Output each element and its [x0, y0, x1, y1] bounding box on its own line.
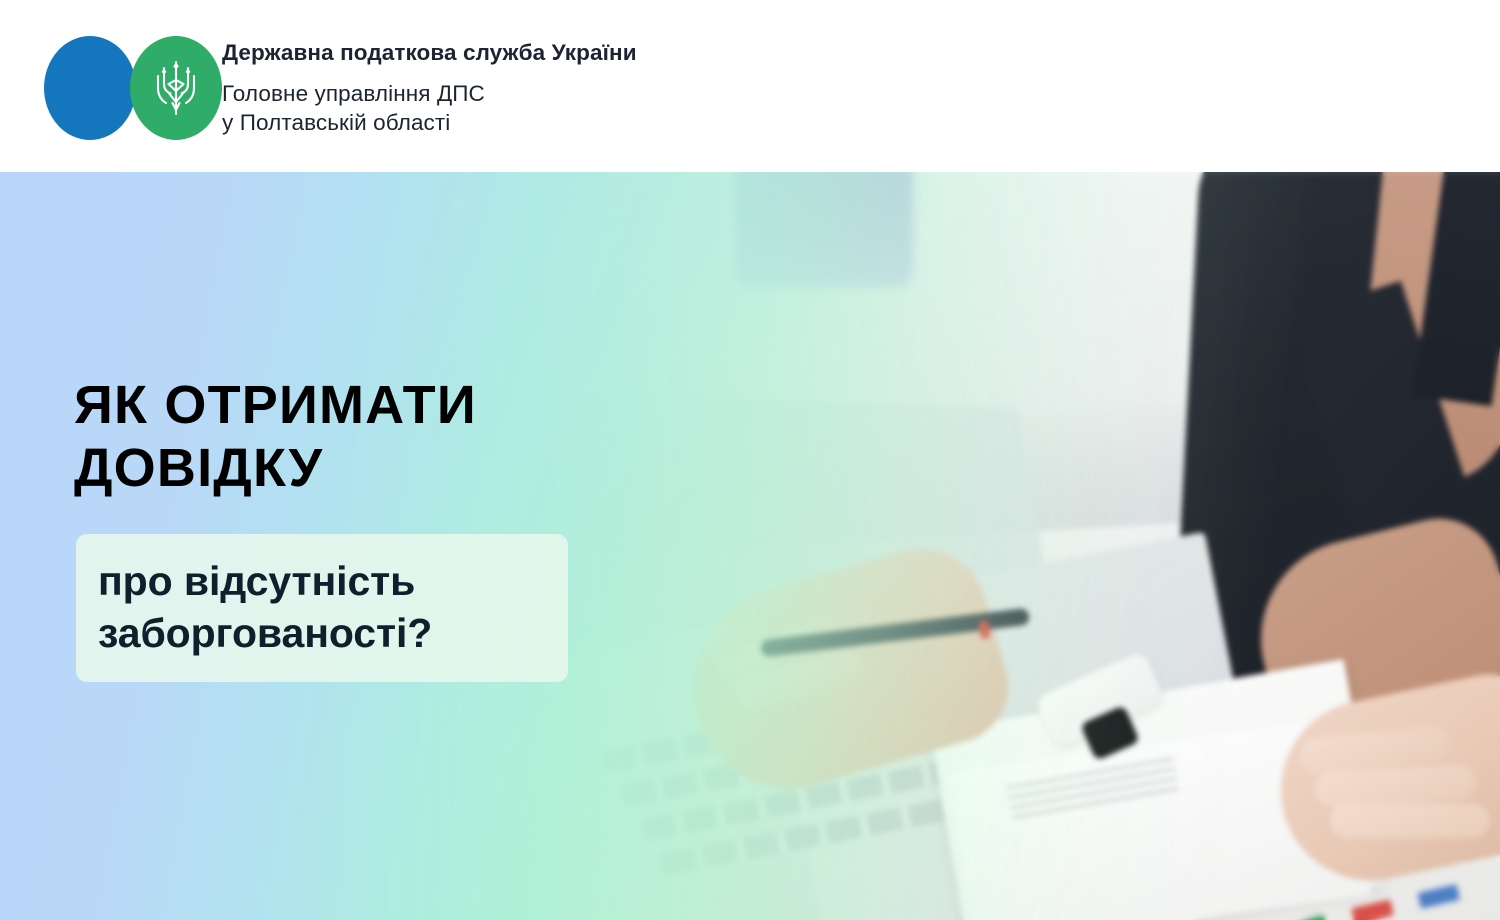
header-band: Державна податкова служба України Головн… — [0, 0, 1500, 172]
logo-blue-circle-icon — [44, 36, 136, 140]
subtitle-line-1: про відсутність — [98, 556, 542, 608]
organization-logo — [44, 36, 212, 140]
poster-banner: ЯК ОТРИМАТИ ДОВІДКУ про відсутність забо… — [0, 0, 1500, 920]
org-line-1: Державна податкова служба України — [222, 40, 637, 67]
organization-name: Державна податкова служба України Головн… — [222, 36, 637, 138]
hero-content: ЯК ОТРИМАТИ ДОВІДКУ про відсутність забо… — [0, 172, 1500, 920]
headline-line-1: ЯК ОТРИМАТИ — [74, 374, 714, 437]
brand-block: Державна податкова служба України Головн… — [44, 36, 637, 140]
hero-section: ЯК ОТРИМАТИ ДОВІДКУ про відсутність забо… — [0, 172, 1500, 920]
subtitle-text: про відсутність заборгованості? — [98, 556, 542, 659]
org-line-2: Головне управління ДПС — [222, 79, 637, 109]
subtitle-box: про відсутність заборгованості? — [76, 534, 568, 682]
ukrainian-trident-icon — [152, 58, 200, 118]
headline: ЯК ОТРИМАТИ ДОВІДКУ — [74, 374, 714, 499]
subtitle-line-2: заборгованості? — [98, 608, 542, 660]
org-line-3: у Полтавській області — [222, 108, 637, 138]
headline-line-2: ДОВІДКУ — [74, 437, 714, 500]
